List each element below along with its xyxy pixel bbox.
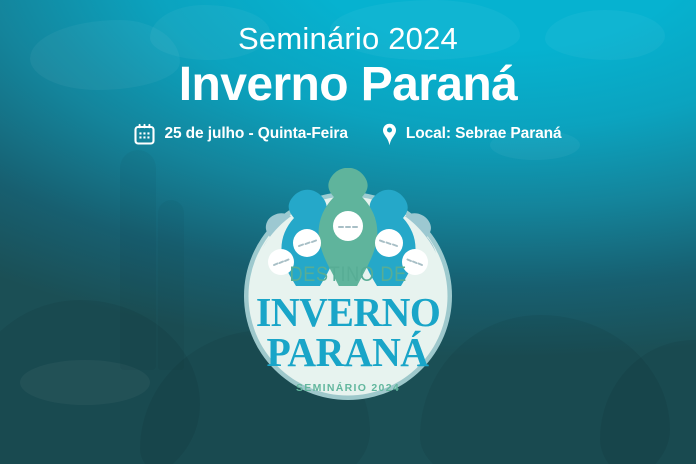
background-blob [0, 300, 200, 464]
logo-face [268, 249, 294, 275]
watermark-tower [120, 150, 156, 370]
banner-header: Seminário 2024 Inverno Paraná [0, 22, 696, 146]
event-logo-badge: DESTINO DE INVERNO PARANÁ SEMINÁRIO 2024 [234, 168, 462, 400]
watermark-shape [20, 360, 150, 405]
calendar-icon [134, 123, 155, 145]
logo-face [333, 211, 363, 241]
event-meta-row: 25 de julho - Quinta-Feira Local: Sebrae… [0, 123, 696, 146]
event-location-text: Local: Sebrae Paraná [406, 125, 562, 143]
logo-face [375, 229, 403, 257]
event-banner: Seminário 2024 Inverno Paraná [0, 0, 696, 464]
event-title: Inverno Paraná [0, 59, 696, 111]
background-blob [600, 340, 696, 464]
map-pin-icon [382, 123, 397, 146]
logo-face [402, 249, 428, 275]
event-date-text: 25 de julho - Quinta-Feira [164, 125, 347, 143]
event-kicker: Seminário 2024 [0, 22, 696, 57]
logo-graphic [234, 168, 462, 400]
event-location: Local: Sebrae Paraná [382, 123, 562, 146]
watermark-tower [158, 200, 184, 370]
logo-face [293, 229, 321, 257]
event-date: 25 de julho - Quinta-Feira [134, 123, 347, 145]
